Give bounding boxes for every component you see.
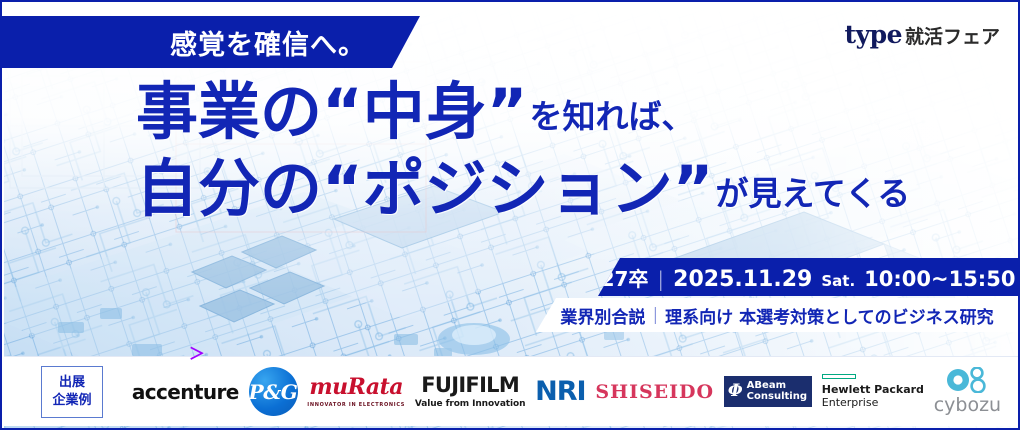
tagline-text: 感覚を確信へ。 — [170, 23, 366, 62]
logo-pg[interactable]: P&G — [249, 357, 298, 426]
event-time: 10:00~15:50 — [864, 267, 1015, 291]
fujifilm-wordmark: FUJIFILM — [421, 375, 519, 396]
type-logo-subtext: 就活フェア — [905, 22, 1000, 49]
abeam-logo-box: Φ ABeam Consulting — [724, 376, 812, 406]
event-subtitle-bar: 業界別合説 | 理系向け 本選考対策としてのビジネス研究 — [536, 298, 1018, 332]
abeam-symbol-icon: Φ — [728, 383, 743, 400]
exhibitor-example-label: 出展 企業例 — [41, 366, 103, 418]
headline-line-2: 自分の“ポジション” が見えてくる — [2, 157, 1018, 220]
hpe-line2: Enterprise — [822, 397, 879, 410]
subtitle-description: 理系向け 本選考対策としてのビジネス研究 — [665, 303, 993, 328]
pg-circle-mark: P&G — [249, 367, 298, 416]
event-weekday: Sat. — [821, 272, 855, 290]
type-logo[interactable]: type 就活フェア — [845, 20, 1000, 49]
abeam-wordmark: ABeam Consulting — [747, 381, 807, 401]
logo-shiseido[interactable]: SHISEIDO — [595, 357, 714, 426]
tagline-ribbon: 感覚を確信へ。 — [2, 16, 420, 68]
nri-wordmark: NRI — [535, 376, 585, 407]
headline-block: 事業の“中身” を知れば、 自分の“ポジション” が見えてくる — [2, 80, 1018, 220]
event-date: 2025.11.29 — [673, 267, 812, 292]
headline-line-1-tail: を知れば、 — [530, 90, 695, 143]
cybozu-wordmark: cybozu — [934, 394, 1001, 416]
pg-wordmark: P&G — [249, 380, 298, 404]
date-separator: | — [657, 267, 664, 291]
event-subtitle-content: 業界別合説 | 理系向け 本選考対策としてのビジネス研究 — [560, 303, 993, 328]
subtitle-separator: | — [652, 305, 658, 325]
logo-murata[interactable]: muRata INNOVATOR IN ELECTRONICS — [307, 357, 405, 426]
abeam-line2: Consulting — [747, 392, 807, 402]
headline-line-2-emphasis: 自分の“ポジション” — [136, 157, 714, 220]
event-date-content: 27卒 | 2025.11.29 Sat. 10:00~15:50 — [601, 263, 1016, 292]
hpe-line1: Hewlett Packard — [822, 384, 924, 397]
logo-accenture[interactable]: accenture ＞ — [132, 357, 239, 426]
logo-fujifilm[interactable]: FUJIFILM Value from Innovation — [415, 357, 526, 426]
exhibitor-logos: accenture ＞ P&G muRata INNOVATOR IN ELEC… — [103, 357, 1020, 426]
logo-abeam[interactable]: Φ ABeam Consulting — [724, 357, 812, 426]
headline-line-2-tail: が見えてくる — [716, 167, 911, 220]
exhibitor-label-line2: 企業例 — [52, 392, 91, 410]
murata-tagline: INNOVATOR IN ELECTRONICS — [307, 402, 405, 408]
headline-line-1: 事業の“中身” を知れば、 — [2, 80, 1018, 143]
event-banner: 感覚を確信へ。 type 就活フェア 事業の“中身” を知れば、 自分の“ポジシ… — [0, 0, 1020, 430]
headline-line-1-emphasis: 事業の“中身” — [136, 80, 528, 143]
logo-cybozu[interactable]: cybozu — [934, 357, 1001, 426]
abeam-line1: ABeam — [747, 381, 807, 391]
event-date-bar: 27卒 | 2025.11.29 Sat. 10:00~15:50 — [598, 258, 1018, 296]
accenture-arrow-icon: ＞ — [189, 346, 205, 362]
murata-wordmark: muRata — [309, 376, 403, 398]
logo-hpe[interactable]: Hewlett Packard Enterprise — [822, 357, 924, 426]
exhibitor-label-line1: 出展 — [59, 374, 85, 392]
accenture-wordmark: accenture — [132, 380, 239, 404]
cybozu-mark-svg — [946, 367, 988, 393]
exhibitor-logo-strip: 出展 企業例 accenture ＞ P&G muRata INNOVATOR … — [4, 356, 1020, 426]
subtitle-category: 業界別合説 — [560, 303, 645, 328]
fujifilm-tagline: Value from Innovation — [415, 399, 526, 409]
type-logo-word: type — [845, 20, 902, 49]
hpe-bar-icon — [822, 374, 856, 379]
cybozu-mark-icon — [946, 367, 988, 393]
shiseido-wordmark: SHISEIDO — [595, 381, 714, 403]
logo-nri[interactable]: NRI — [535, 357, 585, 426]
